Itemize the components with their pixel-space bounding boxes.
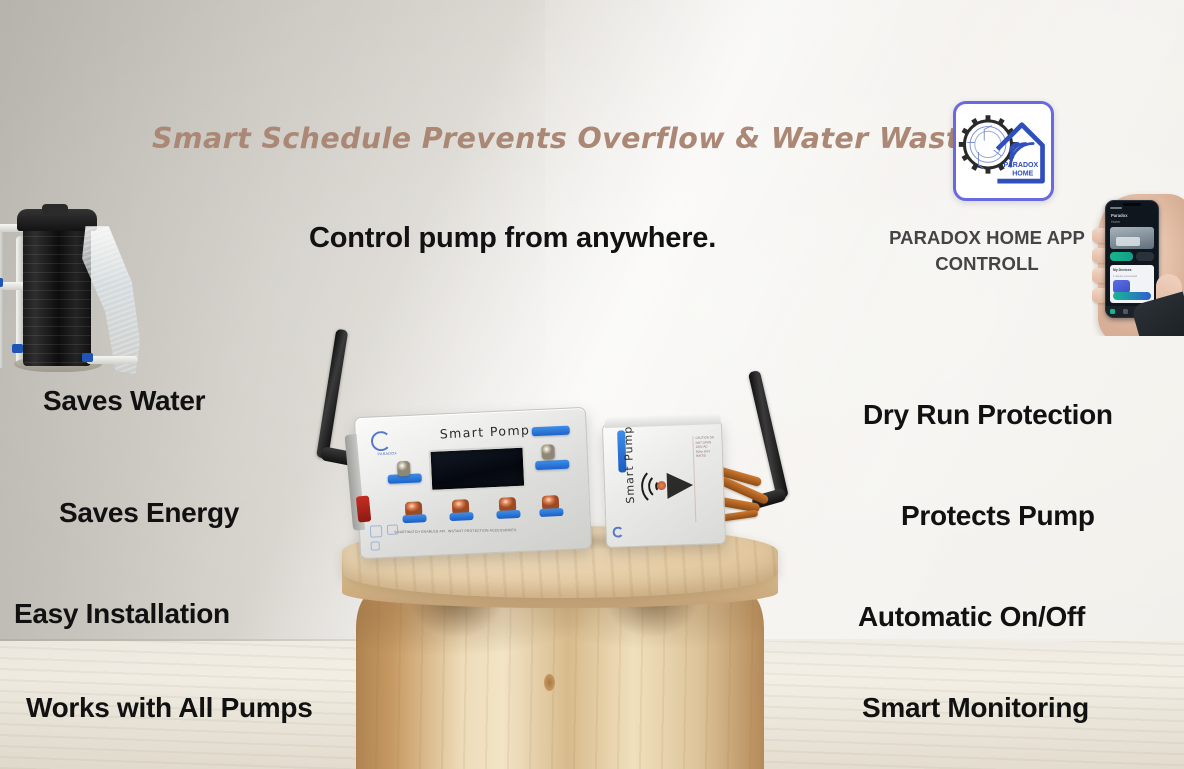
water-tank-image <box>0 196 140 380</box>
controller-knob-left[interactable] <box>397 461 411 477</box>
wifi-tower-shape <box>667 472 694 499</box>
controller-terminal-outline <box>370 525 383 538</box>
controller-red-connector <box>356 495 371 522</box>
controller-terminal-outline <box>387 524 398 534</box>
smart-pump-wireless-module: Smart Pump CAUTION DO NOT OPEN 230V AC 5… <box>602 420 726 548</box>
feature-label-works-all-pumps: Works with All Pumps <box>26 692 312 724</box>
app-add-device-button[interactable] <box>1113 292 1151 300</box>
tank-valve-lower <box>12 344 23 353</box>
logo-artwork: PARADOX HOME <box>956 104 1051 198</box>
stool-wood-knot <box>544 674 555 691</box>
tank-lid <box>42 204 68 214</box>
smart-pump-controller: PARADOX Smart Pomp SMARTWATCH ENABLED AP… <box>354 407 592 559</box>
app-control-caption: PARADOX HOME APP CONTROLL <box>856 225 1118 278</box>
controller-button-mid-right[interactable] <box>535 460 569 471</box>
app-card-title: My Devices <box>1113 268 1131 272</box>
feature-label-saves-water: Saves Water <box>43 385 205 417</box>
controller-terminal-outline <box>371 541 380 550</box>
feature-label-easy-installation: Easy Installation <box>14 598 230 630</box>
tank-body <box>23 218 91 366</box>
wooden-stool <box>330 526 790 769</box>
tank-outlet-valve <box>82 353 93 362</box>
app-status-button[interactable] <box>1136 252 1154 261</box>
feature-label-protects-pump: Protects Pump <box>901 500 1095 532</box>
controller-brand-mark: PARADOX <box>371 430 410 458</box>
logo-brand-line-2: HOME <box>1012 170 1033 177</box>
brand-ring-icon <box>371 431 392 452</box>
controller-brand-text: PARADOX <box>378 451 398 456</box>
controller-led-label <box>449 512 473 521</box>
app-hero-banner <box>1110 227 1154 249</box>
app-schedule-button[interactable] <box>1110 252 1133 261</box>
paradox-home-logo: PARADOX HOME <box>953 101 1054 201</box>
tank-valve-upper <box>0 278 3 287</box>
tank-outlet-pipe <box>86 356 138 364</box>
feature-label-saves-energy: Saves Energy <box>59 497 239 529</box>
promo-image-canvas: Smart Schedule Prevents Overflow & Water… <box>0 0 1184 769</box>
controller-indicator-row <box>405 495 556 528</box>
controller-knob-right[interactable] <box>541 444 555 460</box>
controller-title: Smart Pomp <box>439 422 530 441</box>
wifi-tower-icon <box>630 460 702 514</box>
controller-button-top-right[interactable] <box>532 426 570 437</box>
app-card-subtitle: 1 device connected <box>1113 274 1137 278</box>
logo-brand-line-1: PARADOX <box>1004 162 1039 169</box>
controller-led-label <box>539 508 563 517</box>
wire <box>722 510 759 522</box>
phone-status-bar <box>1110 207 1154 211</box>
controller-led-label <box>496 510 520 519</box>
controller-led-label <box>402 514 426 523</box>
module-side-label: CAUTION DO NOT OPEN 230V AC 50Hz IP54 RA… <box>692 435 717 522</box>
page-headline: Smart Schedule Prevents Overflow & Water… <box>152 122 912 155</box>
feature-label-smart-monitoring: Smart Monitoring <box>862 692 1089 724</box>
phone-notch <box>1123 203 1141 206</box>
feature-label-automatic-on-off: Automatic On/Off <box>858 601 1085 633</box>
sub-headline: Control pump from anywhere. <box>309 222 716 255</box>
app-button-row <box>1110 252 1154 261</box>
app-subtitle: Home <box>1111 220 1120 224</box>
controller-lcd-display <box>428 446 526 492</box>
wiring-harness <box>716 468 794 532</box>
phone-in-hand-image: Paradox Home My Devices 1 device connect… <box>1092 186 1184 336</box>
brand-ring-icon <box>612 526 623 537</box>
nav-devices-icon[interactable] <box>1123 309 1128 314</box>
feature-label-dry-run-protection: Dry Run Protection <box>863 399 1113 431</box>
tank-pipe-vertical-outer <box>0 228 4 368</box>
controller-fineprint-1: SMARTWATCH ENABLED API. INSTANT PROTECTI… <box>394 527 566 535</box>
module-brand-mark <box>612 526 632 541</box>
nav-home-icon[interactable] <box>1110 309 1115 314</box>
app-title: Paradox <box>1111 213 1128 218</box>
app-devices-card: My Devices 1 device connected <box>1110 265 1154 303</box>
